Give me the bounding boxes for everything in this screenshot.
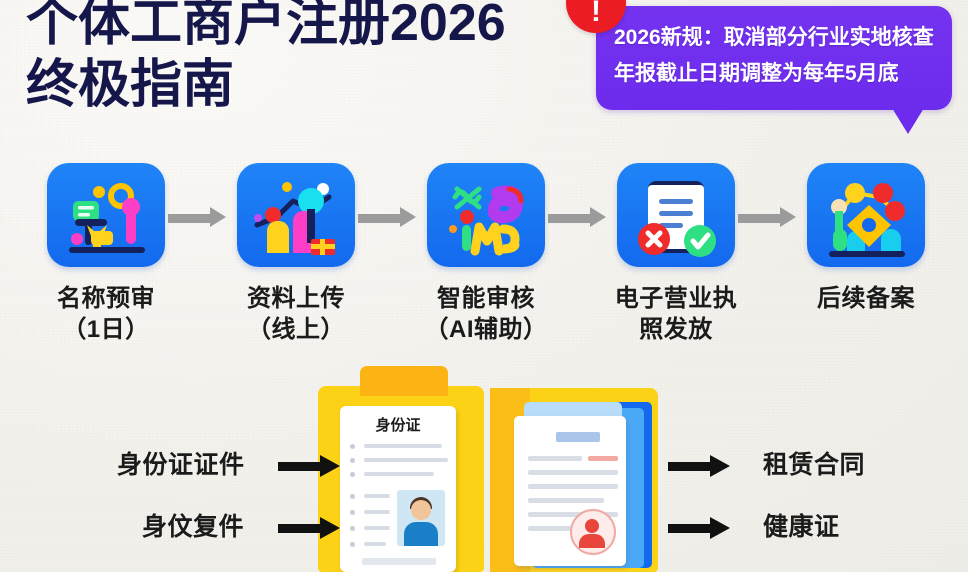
documents-illustration: 身份证 [318, 366, 658, 572]
right-label-1: 租赁合同 [763, 450, 865, 480]
callout-text: 2026新规：取消部分行业实地核查 年报截止日期调整为每年5月底 [614, 20, 936, 92]
process-step-5-label: 后续备案 [771, 283, 961, 314]
process-step-1-label: 名称预审 （1日） [11, 283, 201, 345]
network-node-icon [807, 163, 925, 267]
id-photo [397, 490, 445, 546]
new-rules-callout: 2026新规：取消部分行业实地核查 年报截止日期调整为每年5月底 [596, 6, 952, 110]
process-flow: 名称预审 （1日） 资料上传 （线上） [0, 163, 968, 353]
red-seal-icon [570, 509, 616, 555]
process-step-2-label: 资料上传 （线上） [201, 283, 391, 345]
process-step-5[interactable]: 后续备案 [771, 163, 961, 314]
id-card: 身份证 [340, 406, 456, 572]
left-arrow-1 [278, 458, 340, 474]
bar-chart-upload-icon [237, 163, 355, 267]
ai-squiggle-icon [427, 163, 545, 267]
process-step-3[interactable]: 智能审核 （AI辅助） [391, 163, 581, 345]
process-step-4-label: 电子营业执 照发放 [581, 283, 771, 345]
callout-tail [892, 108, 924, 134]
chart-stand-icon [47, 163, 165, 267]
process-step-2[interactable]: 资料上传 （线上） [201, 163, 391, 345]
process-step-1[interactable]: 名称预审 （1日） [11, 163, 201, 345]
document-approval-icon [617, 163, 735, 267]
left-folder-tab [360, 366, 448, 396]
page-title: 个体工商户注册2026 终极指南 [26, 0, 586, 116]
right-arrow-2 [668, 520, 730, 536]
right-arrow-1 [668, 458, 730, 474]
id-card-title: 身份证 [340, 414, 456, 435]
left-label-1: 身份证证件 [117, 450, 245, 480]
left-arrow-2 [278, 520, 340, 536]
right-label-2: 健康证 [763, 512, 840, 542]
process-step-3-label: 智能审核 （AI辅助） [391, 283, 581, 345]
process-step-4[interactable]: 电子营业执 照发放 [581, 163, 771, 345]
left-label-2: 身伩复件 [142, 512, 244, 542]
exclamation-mark: ! [566, 0, 626, 27]
